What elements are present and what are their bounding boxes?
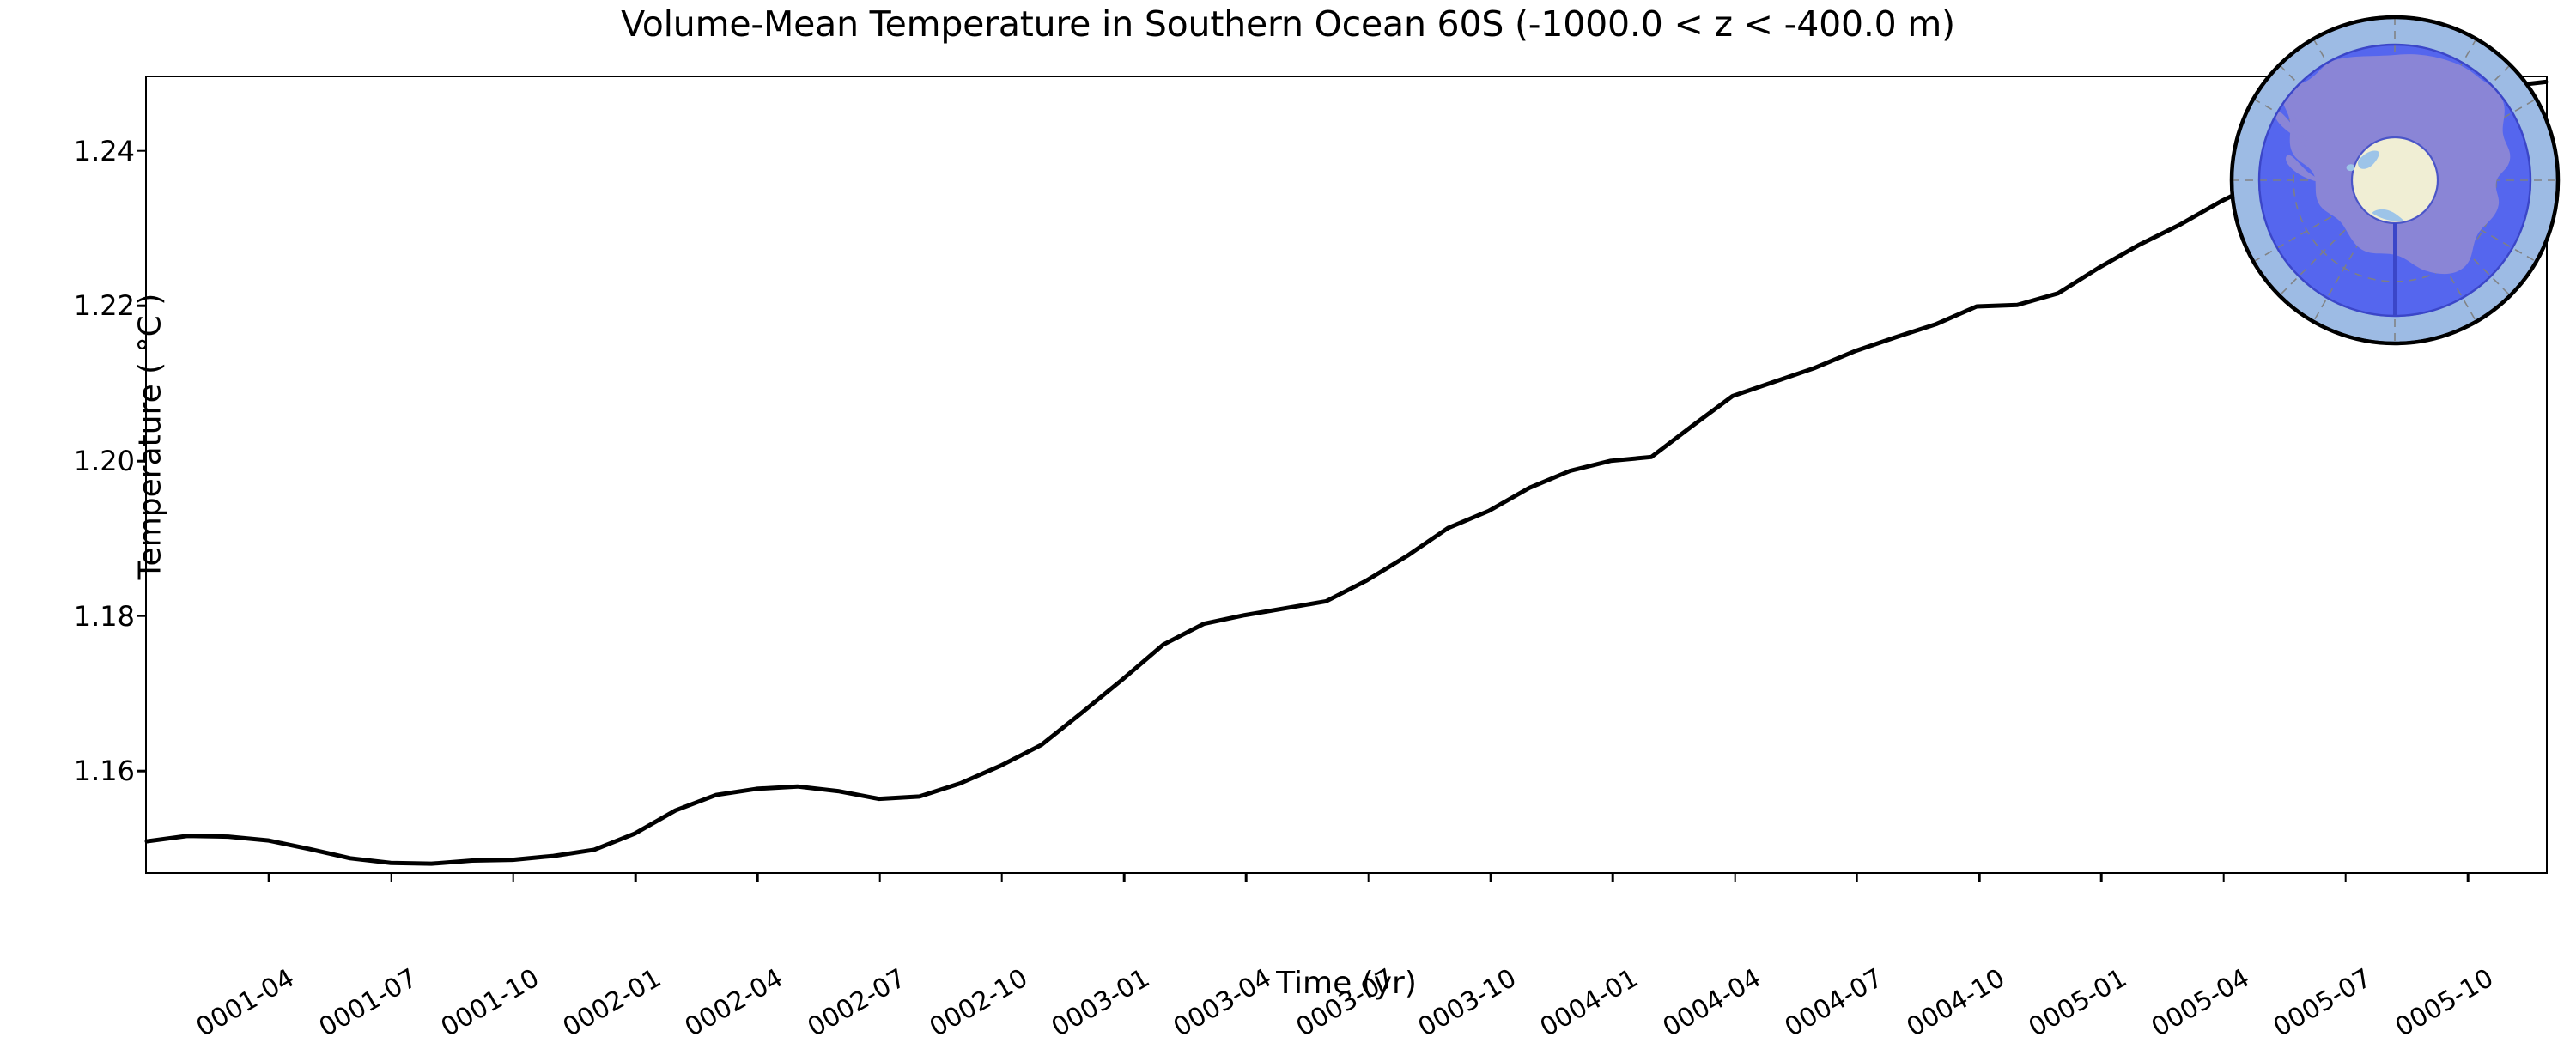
x-tick-mark (1612, 872, 1614, 882)
x-tick-mark (268, 872, 270, 882)
y-tick-label: 1.16 (74, 755, 135, 787)
x-tick-mark (1001, 872, 1004, 882)
y-tick-mark (137, 305, 147, 307)
x-tick-mark (635, 872, 637, 882)
temperature-series-line (147, 82, 2546, 864)
x-axis-label: Time (yr) (145, 966, 2548, 1001)
x-tick-mark (390, 872, 392, 882)
figure-canvas: Volume-Mean Temperature in Southern Ocea… (0, 0, 2576, 1030)
map-ice-cap (2352, 137, 2438, 223)
x-tick-mark (756, 872, 759, 882)
x-tick-mark (878, 872, 881, 882)
y-tick-label: 1.24 (74, 135, 135, 167)
polar-map-inset (2227, 12, 2563, 349)
x-tick-mark (1367, 872, 1370, 882)
x-tick-mark (2467, 872, 2470, 882)
y-tick-mark (137, 615, 147, 617)
x-tick-mark (2222, 872, 2225, 882)
x-tick-mark (1490, 872, 1492, 882)
chart-title: Volume-Mean Temperature in Southern Ocea… (0, 3, 2576, 45)
data-line-layer (147, 77, 2546, 872)
x-tick-mark (1123, 872, 1126, 882)
y-tick-label: 1.20 (74, 445, 135, 477)
x-tick-mark (1734, 872, 1736, 882)
x-tick-mark (513, 872, 515, 882)
x-tick-mark (1856, 872, 1858, 882)
y-tick-mark (137, 460, 147, 463)
y-tick-mark (137, 770, 147, 773)
y-tick-label: 1.18 (74, 600, 135, 633)
x-tick-mark (2100, 872, 2103, 882)
x-tick-mark (1978, 872, 1981, 882)
x-tick-mark (2345, 872, 2348, 882)
y-tick-label: 1.22 (74, 289, 135, 322)
x-tick-mark (1245, 872, 1248, 882)
antarctica-polar-map (2227, 12, 2563, 349)
y-tick-mark (137, 149, 147, 152)
plot-axes: Temperature ( °C ) 1.161.181.201.221.24 … (145, 76, 2548, 874)
